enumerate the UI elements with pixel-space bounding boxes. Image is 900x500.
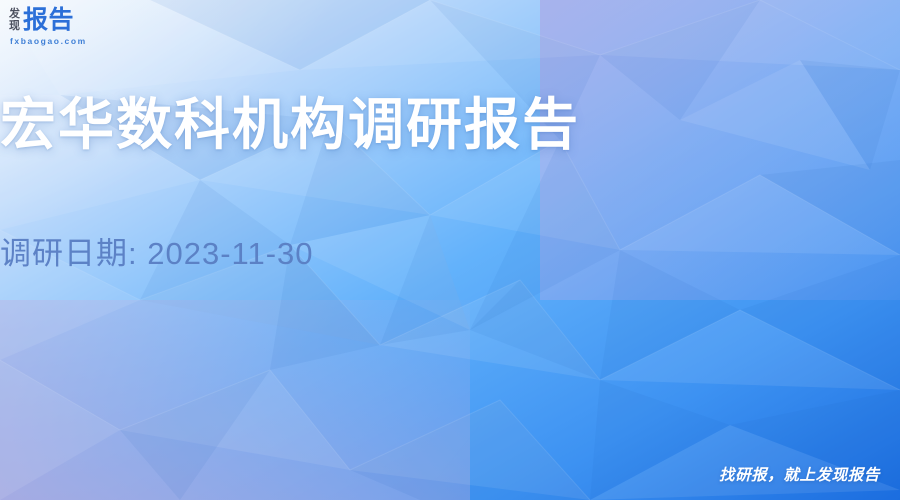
logo-wordmark-row: 发 现 报告 [9,7,74,34]
cover-subtitle: 调研日期: 2023-11-30 [0,232,900,276]
logo-stacked-chars: 发 现 [9,8,20,33]
report-cover-slide: 发 现 报告 fxbaogao.com 宏华数科机构调研报告 调研日期: 202… [0,0,900,500]
cover-title: 宏华数科机构调研报告 [0,88,900,162]
logo-char-xian: 现 [9,20,20,32]
footer-tagline: 找研报，就上发现报告 [719,466,880,486]
logo-char-fa: 发 [9,8,20,20]
logo-domain: fxbaogao.com [10,36,87,46]
logo-wordmark: 报告 [23,7,74,34]
site-logo[interactable]: 发 现 报告 fxbaogao.com [9,7,87,46]
